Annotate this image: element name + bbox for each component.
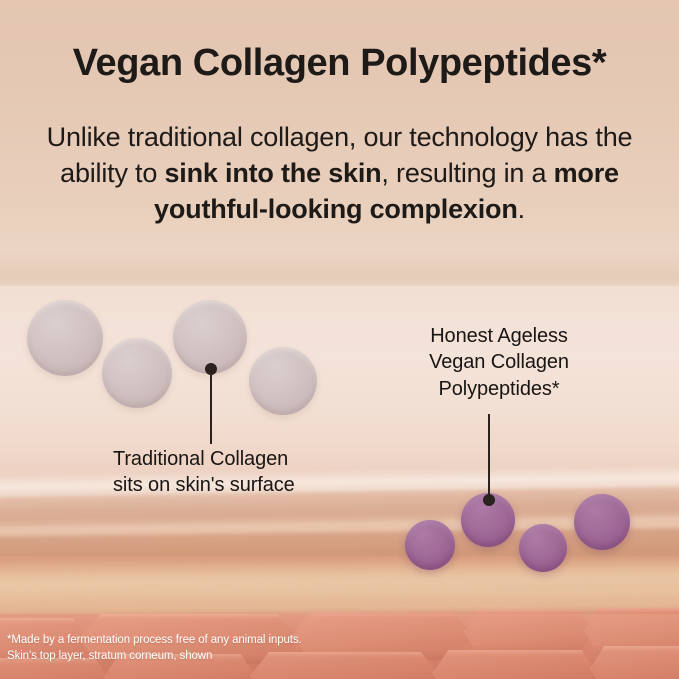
subtitle: Unlike traditional collagen, our technol… xyxy=(46,120,633,228)
skin-cell xyxy=(464,610,592,654)
footnote-line-1: *Made by a fermentation process free of … xyxy=(7,632,302,649)
infographic-canvas: Vegan Collagen Polypeptides* Unlike trad… xyxy=(0,0,679,679)
vegan-collagen-label: Honest Ageless Vegan Collagen Polypeptid… xyxy=(406,323,592,402)
footnote-line-2: Skin's top layer, stratum corneum, shown xyxy=(7,648,302,665)
traditional-collagen-molecule xyxy=(249,347,317,415)
traditional-collagen-molecule xyxy=(27,300,103,376)
traditional-collagen-label: Traditional Collagen sits on skin's surf… xyxy=(113,446,295,499)
vegan-collagen-molecule xyxy=(574,494,630,550)
connector-line xyxy=(210,364,212,444)
skin-cell xyxy=(432,650,598,679)
page-title: Vegan Collagen Polypeptides* xyxy=(0,44,679,84)
connector-line xyxy=(488,414,490,500)
vegan-collagen-label-line-2: Vegan Collagen xyxy=(406,349,592,375)
subtitle-part-3: . xyxy=(518,194,525,224)
subtitle-part-2: , resulting in a xyxy=(381,158,553,188)
dermis-sheen xyxy=(0,557,679,604)
vegan-collagen-label-line-3: Polypeptides* xyxy=(406,376,592,402)
vegan-collagen-molecule xyxy=(519,524,567,572)
vegan-collagen-label-line-1: Honest Ageless xyxy=(406,323,592,349)
skin-cell xyxy=(590,646,679,679)
connector-dot xyxy=(483,494,495,506)
subtitle-emphasis-1: sink into the skin xyxy=(164,158,381,188)
connector-dot xyxy=(205,363,217,375)
traditional-collagen-label-line-1: Traditional Collagen xyxy=(113,446,295,472)
traditional-collagen-label-line-2: sits on skin's surface xyxy=(113,472,295,498)
vegan-collagen-molecule xyxy=(405,520,455,570)
traditional-collagen-molecule xyxy=(102,338,172,408)
footnote: *Made by a fermentation process free of … xyxy=(7,632,302,665)
